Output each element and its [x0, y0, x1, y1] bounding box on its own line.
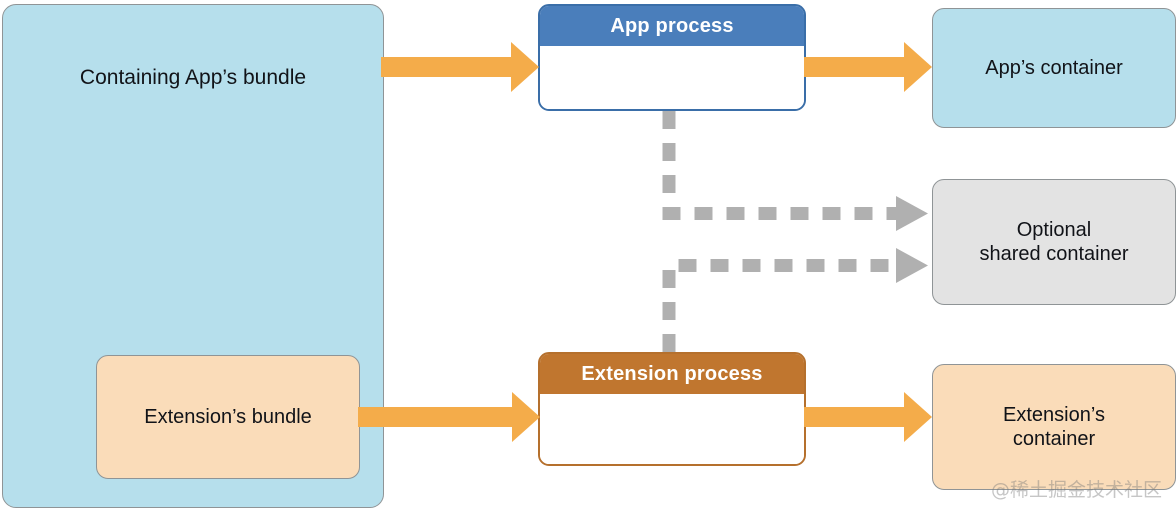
node-app-container[interactable]: App’s container — [932, 8, 1176, 128]
arrow-head-icon — [896, 248, 928, 283]
node-label-line1: Extension’s — [1003, 404, 1105, 426]
arrow-head-icon — [896, 196, 928, 231]
diagram-canvas: Containing App’s bundle Extension’s bund… — [0, 0, 1176, 510]
node-header-extension-process: Extension process — [540, 354, 804, 394]
node-label-line2: shared container — [980, 243, 1129, 265]
node-optional-shared-container[interactable]: Optional shared container — [932, 179, 1176, 305]
node-body-extension-process — [540, 394, 804, 464]
arrow-shaft — [358, 407, 512, 427]
arrow-extension-process-to-shared-container — [669, 248, 928, 352]
node-label-extension-container: Extension’s container — [1003, 403, 1105, 452]
arrow-head-icon — [904, 392, 932, 442]
arrow-head-icon — [511, 42, 539, 92]
node-label-containing-app-bundle: Containing App’s bundle — [80, 65, 306, 91]
arrow-app-process-to-shared-container — [669, 111, 928, 231]
arrow-app-process-to-app-container — [804, 42, 932, 92]
node-app-process[interactable]: App process — [538, 4, 806, 111]
arrow-head-icon — [512, 392, 540, 442]
dashed-path — [669, 111, 898, 214]
arrow-head-icon — [904, 42, 932, 92]
node-label-optional-shared-container: Optional shared container — [980, 218, 1129, 267]
node-label-line1: Optional — [1017, 219, 1092, 241]
node-label-line2: container — [1013, 428, 1095, 450]
node-extension-process[interactable]: Extension process — [538, 352, 806, 466]
arrow-extension-process-to-extension-container — [804, 392, 932, 442]
node-label-extension-bundle: Extension’s bundle — [144, 405, 312, 429]
dashed-path — [669, 266, 898, 353]
node-header-app-process: App process — [540, 6, 804, 46]
node-extension-bundle[interactable]: Extension’s bundle — [96, 355, 360, 479]
node-body-app-process — [540, 46, 804, 109]
arrow-shaft — [804, 57, 904, 77]
arrow-shaft — [381, 57, 511, 77]
node-extension-container[interactable]: Extension’s container — [932, 364, 1176, 490]
arrow-shaft — [804, 407, 904, 427]
node-label-app-container: App’s container — [985, 56, 1123, 80]
watermark: @稀土掘金技术社区 — [991, 475, 1162, 502]
arrow-extension-bundle-to-extension-process — [358, 392, 540, 442]
arrow-app-bundle-to-app-process — [381, 42, 539, 92]
